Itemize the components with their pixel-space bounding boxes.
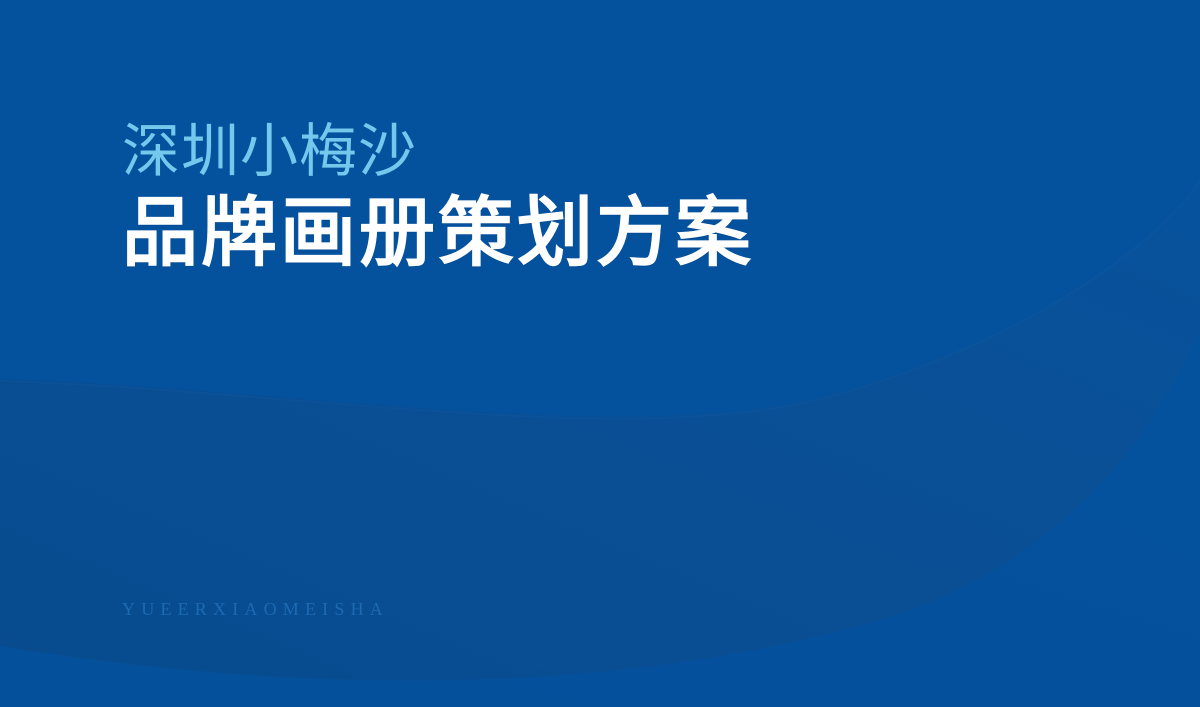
title-text-block: 深圳小梅沙 品牌画册策划方案	[122, 118, 1022, 278]
footer-wordmark: YUEERXIAOMEISHA	[122, 598, 389, 620]
slide-main-title: 品牌画册策划方案	[122, 192, 1022, 277]
cover-slide: 深圳小梅沙 品牌画册策划方案 YUEERXIAOMEISHA	[0, 0, 1200, 707]
slide-subtitle: 深圳小梅沙	[122, 118, 1022, 186]
